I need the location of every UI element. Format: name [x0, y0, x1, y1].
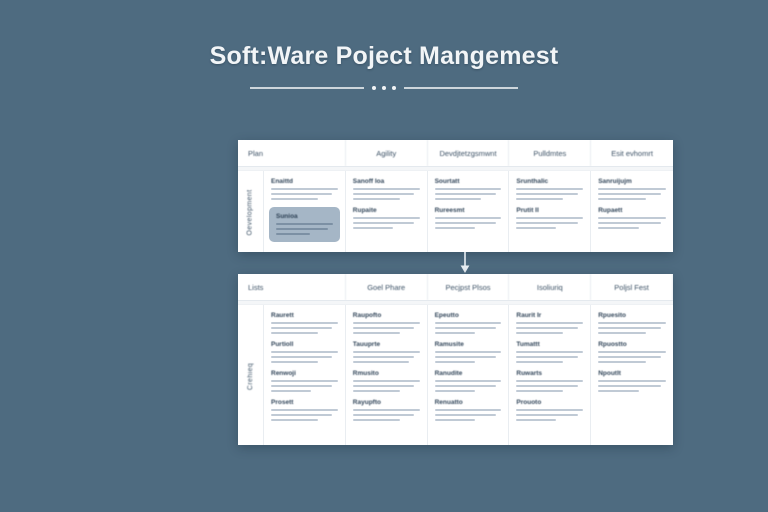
table-bottom-axis-label-column: Crehieq [238, 305, 264, 445]
text-block-line [598, 188, 666, 191]
table-top-header-4[interactable]: Esit evhomrt [591, 140, 673, 166]
table-bottom-cell-4[interactable]: RpuesitoRpuosttoNpoutlt [591, 305, 673, 445]
text-block[interactable]: Rupaett [598, 207, 666, 229]
text-block-line [435, 385, 496, 388]
text-block-line [435, 332, 475, 335]
text-block[interactable]: Rayupfto [353, 399, 420, 421]
text-block-line [271, 332, 318, 335]
table-top-body: OevelopmentEnaittdSunioaSanoff loaRupait… [238, 171, 673, 252]
text-block-line [435, 351, 502, 354]
text-block[interactable]: Renwoji [271, 370, 338, 392]
text-block-line [353, 217, 420, 220]
text-block-line [598, 217, 666, 220]
text-block-heading: Rupaite [353, 207, 420, 214]
text-block-line [271, 380, 338, 383]
text-block-line [435, 193, 496, 196]
text-block[interactable]: Enaittd [271, 178, 338, 200]
text-block-line [516, 361, 563, 364]
text-block-line [598, 356, 660, 359]
text-block-line [271, 322, 338, 325]
text-block-line [271, 198, 318, 201]
text-block[interactable]: Rmusito [353, 370, 420, 392]
page-title: Soft:Ware Poject Mangemest [0, 42, 768, 71]
table-bottom-header-3[interactable]: Isoliuriq [509, 274, 591, 300]
text-block-line [353, 222, 414, 225]
text-block[interactable]: Purtioll [271, 341, 338, 363]
text-block-heading: Sourtatt [435, 178, 502, 185]
text-block-line [516, 222, 577, 225]
text-block-line [435, 390, 475, 393]
table-bottom-body: CrehieqRaurettPurtiollRenwojiProsettRaup… [238, 305, 673, 445]
text-block-line [353, 414, 414, 417]
table-bottom-header-row: ListsGoel PharePecjpst PlsosIsoliuriqPol… [238, 274, 673, 300]
table-bottom-cell-0[interactable]: RaurettPurtiollRenwojiProsett [264, 305, 346, 445]
text-block-line [435, 361, 475, 364]
text-block-line [271, 188, 338, 191]
text-block-heading: Rupaett [598, 207, 666, 214]
text-block-line [598, 193, 660, 196]
text-block-line [598, 385, 660, 388]
text-block-heading: Renuatto [435, 399, 502, 406]
text-block-line [598, 322, 666, 325]
table-top-header-1[interactable]: Agility [346, 140, 428, 166]
text-block[interactable]: Ramusite [435, 341, 502, 363]
table-bottom: ListsGoel PharePecjpst PlsosIsoliuriqPol… [238, 274, 673, 445]
text-block-line [276, 233, 310, 236]
table-top-axis-label: Oevelopment [247, 189, 254, 235]
text-block-line [353, 361, 409, 364]
text-block-line [435, 222, 496, 225]
text-block[interactable]: Ranudite [435, 370, 502, 392]
text-block-line [516, 419, 556, 422]
text-block-line [271, 361, 318, 364]
text-block-heading: Sanoff loa [353, 178, 420, 185]
text-block-line [435, 327, 496, 330]
divider-line-left [250, 87, 364, 89]
text-block-heading: Srunthalic [516, 178, 583, 185]
screen: Soft:Ware Poject Mangemest PlanAgilityDe… [0, 0, 768, 512]
text-block-line [435, 227, 475, 230]
divider-line-right [404, 87, 518, 89]
text-block-line [271, 327, 332, 330]
text-block-line [276, 228, 328, 231]
text-block-line [516, 188, 583, 191]
text-block-line [435, 380, 502, 383]
title-divider [250, 83, 518, 93]
text-block[interactable]: Rupaite [353, 207, 420, 229]
text-block-line [353, 385, 414, 388]
text-block-heading: Raurett [271, 312, 338, 319]
text-block-heading: Tumattt [516, 341, 583, 348]
text-block-heading: Raurit Ir [516, 312, 583, 319]
text-block-line [516, 198, 563, 201]
text-block-line [435, 414, 496, 417]
text-block[interactable]: Rpuesito [598, 312, 666, 334]
text-block-line [353, 409, 420, 412]
text-block-heading: Sanruijujm [598, 178, 666, 185]
text-block-line [516, 227, 556, 230]
text-block[interactable]: Sanruijujm [598, 178, 666, 200]
text-block-line [353, 322, 420, 325]
text-block-line [435, 419, 475, 422]
text-block-line [353, 193, 414, 196]
text-block[interactable]: Prouoto [516, 399, 583, 421]
text-block-line [598, 351, 666, 354]
text-block[interactable]: Prosett [271, 399, 338, 421]
text-block-heading: Purtioll [271, 341, 338, 348]
text-block-line [353, 419, 400, 422]
text-block-line [271, 414, 332, 417]
text-block-line [516, 332, 563, 335]
text-block-line [271, 351, 338, 354]
text-block-heading: Enaittd [271, 178, 338, 185]
table-bottom-header-2[interactable]: Pecjpst Plsos [428, 274, 510, 300]
text-block-line [516, 351, 583, 354]
text-block-heading: Rmusito [353, 370, 420, 377]
text-block-line [598, 227, 639, 230]
text-block[interactable]: Rureesmt [435, 207, 502, 229]
arrow-down-icon [455, 252, 475, 274]
text-block-line [516, 356, 577, 359]
text-block[interactable]: Tauuprte [353, 341, 420, 363]
text-block-heading: Ranudite [435, 370, 502, 377]
table-bottom-header-1[interactable]: Goel Phare [346, 274, 428, 300]
text-block-heading: Sunioa [276, 213, 333, 220]
text-block-line [516, 322, 583, 325]
text-block-line [353, 380, 420, 383]
table-top-header-3[interactable]: Pulldmtes [509, 140, 591, 166]
table-top-cell-3[interactable]: SrunthalicPrutit II [509, 171, 591, 252]
table-top-cell-4[interactable]: SanruijujmRupaett [591, 171, 673, 252]
text-block-line [271, 390, 311, 393]
text-block-line [516, 385, 577, 388]
table-top-cell-0[interactable]: EnaittdSunioa [264, 171, 346, 252]
text-block[interactable]: Raupofto [353, 312, 420, 334]
table-bottom-cell-1[interactable]: RaupoftoTauuprteRmusitoRayupfto [346, 305, 428, 445]
text-block-line [271, 193, 332, 196]
text-block-line [276, 223, 333, 226]
text-block[interactable]: Prutit II [516, 207, 583, 229]
text-block-heading: Rayupfto [353, 399, 420, 406]
table-top-axis-label-column: Oevelopment [238, 171, 264, 252]
text-block-line [271, 419, 318, 422]
table-bottom-header-4[interactable]: Poljsl Fest [591, 274, 673, 300]
text-block-line [435, 217, 502, 220]
text-block-line [516, 409, 583, 412]
text-block-line [516, 193, 577, 196]
table-top-header-2[interactable]: Devdjtetzgsmwnt [428, 140, 510, 166]
table-top-cell-1[interactable]: Sanoff loaRupaite [346, 171, 428, 252]
text-block-heading: Npoutlt [598, 370, 666, 377]
table-bottom-axis-label: Crehieq [247, 362, 254, 389]
table-bottom-cell-3[interactable]: Raurit IrTumatttRuwartsProuoto [509, 305, 591, 445]
text-block-line [435, 356, 496, 359]
highlighted-text-block[interactable]: Sunioa [269, 207, 340, 242]
text-block-line [435, 322, 502, 325]
text-block[interactable]: Tumattt [516, 341, 583, 363]
text-block-heading: Ramusite [435, 341, 502, 348]
text-block-line [353, 227, 393, 230]
text-block-heading: Ruwarts [516, 370, 583, 377]
text-block[interactable]: Raurit Ir [516, 312, 583, 334]
text-block[interactable]: Srunthalic [516, 178, 583, 200]
text-block-line [435, 188, 502, 191]
text-block-line [271, 409, 338, 412]
text-block-heading: Prutit II [516, 207, 583, 214]
text-block[interactable]: Raurett [271, 312, 338, 334]
text-block-heading: Epeutto [435, 312, 502, 319]
text-block[interactable]: Npoutlt [598, 370, 666, 392]
text-block-heading: Rpuostto [598, 341, 666, 348]
text-block[interactable]: Sanoff loa [353, 178, 420, 200]
text-block-heading: Prosett [271, 399, 338, 406]
text-block[interactable]: Rpuostto [598, 341, 666, 363]
divider-dots [372, 86, 396, 90]
text-block-line [598, 327, 660, 330]
text-block-line [353, 390, 400, 393]
text-block-line [598, 332, 645, 335]
text-block-heading: Rureesmt [435, 207, 502, 214]
text-block-line [598, 380, 666, 383]
text-block-line [516, 327, 577, 330]
text-block-heading: Tauuprte [353, 341, 420, 348]
text-block-line [598, 222, 660, 225]
text-block[interactable]: Renuatto [435, 399, 502, 421]
text-block-line [271, 385, 332, 388]
text-block-line [353, 327, 414, 330]
text-block-line [516, 414, 577, 417]
text-block-line [516, 380, 583, 383]
text-block-line [516, 390, 563, 393]
text-block-line [516, 217, 583, 220]
text-block-heading: Rpuesito [598, 312, 666, 319]
table-top-header-row: PlanAgilityDevdjtetzgsmwntPulldmtesEsit … [238, 140, 673, 166]
text-block[interactable]: Epeutto [435, 312, 502, 334]
text-block-line [271, 356, 332, 359]
text-block-line [598, 390, 639, 393]
text-block[interactable]: Sourtatt [435, 178, 502, 200]
table-top-header-0[interactable]: Plan [238, 140, 346, 166]
text-block-line [435, 409, 502, 412]
text-block-heading: Raupofto [353, 312, 420, 319]
text-block-heading: Prouoto [516, 399, 583, 406]
table-bottom-cell-2[interactable]: EpeuttoRamusiteRanuditeRenuatto [428, 305, 510, 445]
table-top: PlanAgilityDevdjtetzgsmwntPulldmtesEsit … [238, 140, 673, 252]
text-block-heading: Renwoji [271, 370, 338, 377]
text-block-line [353, 332, 400, 335]
table-bottom-header-0[interactable]: Lists [238, 274, 346, 300]
text-block-line [353, 351, 420, 354]
text-block-line [353, 188, 420, 191]
text-block-line [353, 356, 414, 359]
text-block-line [435, 198, 482, 201]
text-block-line [598, 198, 645, 201]
text-block-line [353, 198, 400, 201]
page-title-wrap: Soft:Ware Poject Mangemest [0, 42, 768, 93]
table-top-cell-2[interactable]: SourtattRureesmt [428, 171, 510, 252]
text-block-line [598, 361, 645, 364]
text-block[interactable]: Ruwarts [516, 370, 583, 392]
